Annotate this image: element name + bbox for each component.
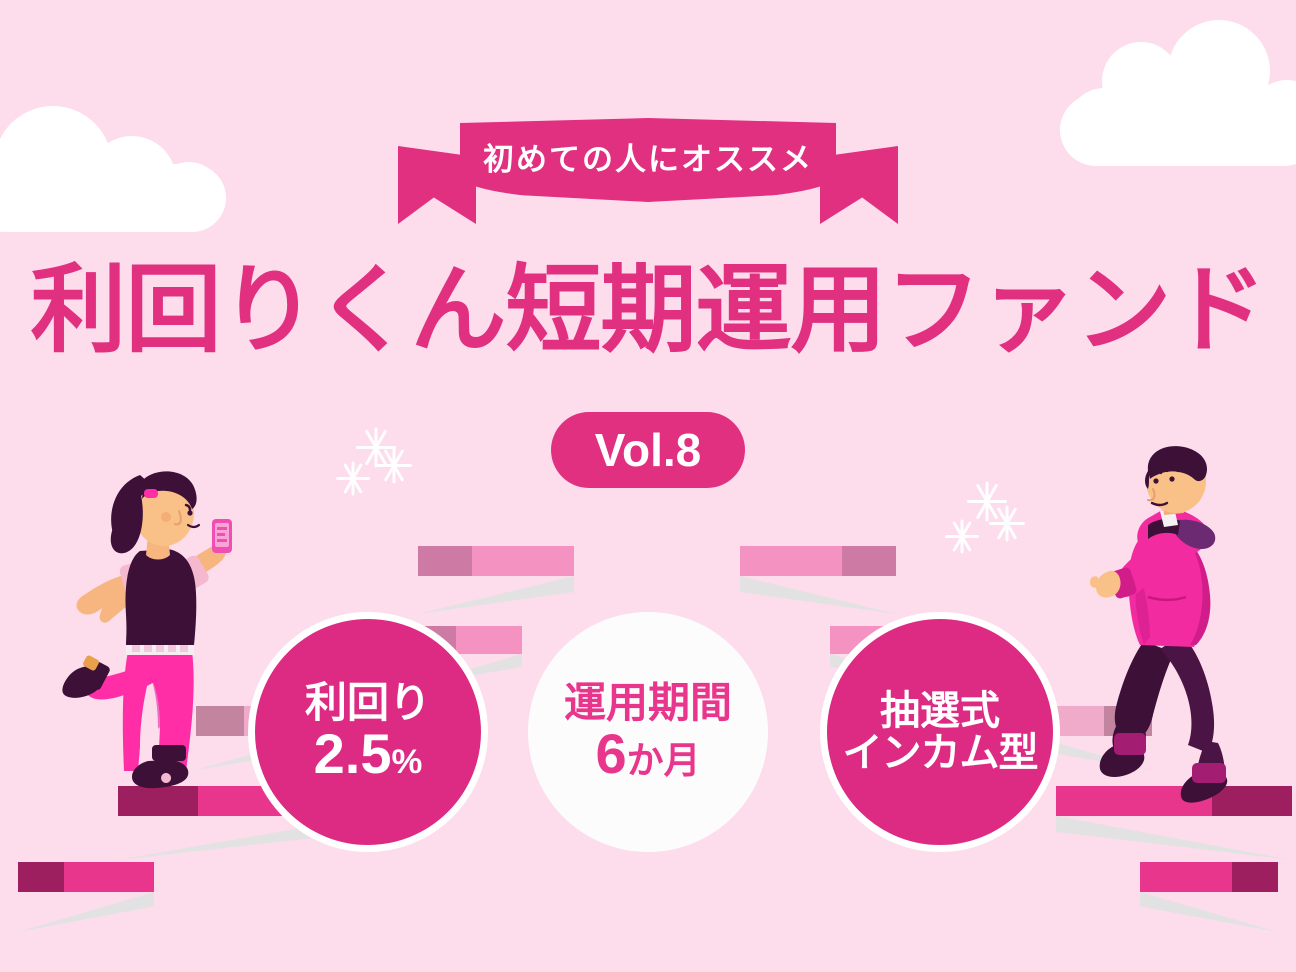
step-bar [740,546,896,576]
feature-yield-value: 2.5% [314,725,423,784]
feature-circle-type: 抽選式 インカム型 [820,612,1060,852]
illustration-woman-jumping-with-phone [40,455,270,800]
feature-term-value: 6か月 [595,725,700,784]
feature-term-unit: か月 [627,740,701,781]
sparkle-cluster-left [325,418,425,508]
feature-term-label: 運用期間 [564,681,732,725]
volume-badge-label: Vol.8 [595,423,702,477]
recommendation-ribbon: 初めての人にオススメ [398,118,898,230]
feature-yield-number: 2.5 [314,722,392,785]
feature-circle-term: 運用期間 6か月 [528,612,768,852]
step-bar [418,546,574,576]
feature-yield-unit: % [391,743,422,781]
page-title: 利回りくん短期運用ファンド [0,258,1296,364]
step-bar [1140,862,1278,892]
sparkle-icon [333,458,373,498]
sparkle-cluster-right [936,474,1036,564]
sparkle-icon [986,502,1028,544]
feature-type-label: 抽選式 [880,690,1000,732]
feature-term-number: 6 [595,722,626,785]
illustration-man-climbing-steps [1078,445,1278,805]
poster-canvas: 初めての人にオススメ 利回りくん短期運用ファンド Vol.8 [0,0,1296,972]
cloud-top-left-icon [0,84,226,234]
ribbon-band: 初めての人にオススメ [460,118,836,202]
sparkle-icon [373,444,415,486]
ribbon-label: 初めての人にオススメ [483,134,813,179]
feature-yield-label: 利回り [305,681,431,725]
sparkle-icon [942,516,982,556]
feature-type-value: インカム型 [843,732,1038,774]
feature-circle-yield: 利回り 2.5% [248,612,488,852]
cloud-top-right-icon [1060,0,1296,172]
step-bar [18,862,154,892]
volume-badge: Vol.8 [551,412,745,488]
